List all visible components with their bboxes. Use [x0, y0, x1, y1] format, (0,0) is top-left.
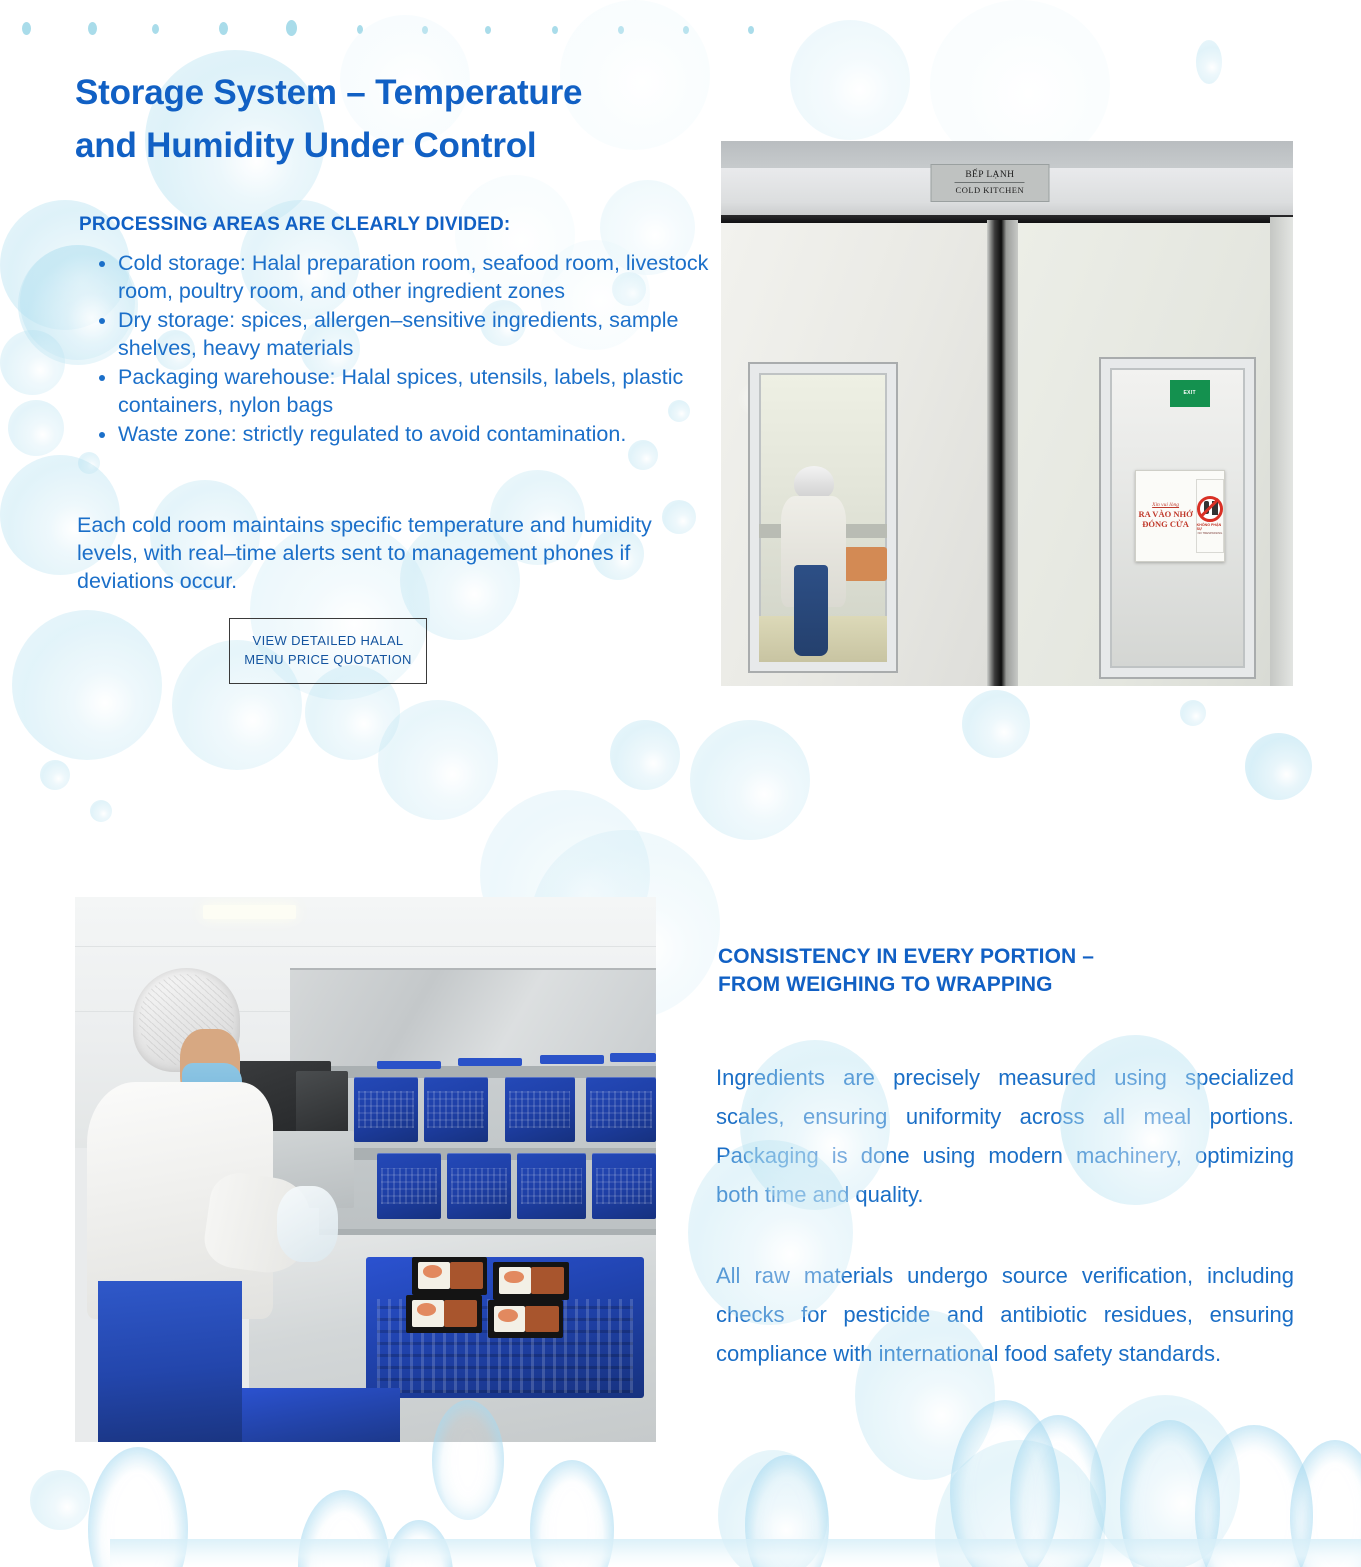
bubble	[962, 690, 1030, 758]
page-title-line-1: Storage System – Temperature	[75, 73, 582, 112]
bubble-outline	[88, 1447, 188, 1567]
list-item: Packaging warehouse: Halal spices, utens…	[118, 364, 732, 419]
bubble	[610, 720, 680, 790]
door-notice-sign: Xin vui lòng RA VÀO NHỚ ĐÓNG CỬA KHÔNG P…	[1135, 470, 1226, 562]
list-item: Dry storage: spices, allergen–sensitive …	[118, 307, 732, 362]
cta-line-2: MENU PRICE QUOTATION	[244, 651, 412, 670]
wall-panel-seam	[75, 946, 656, 947]
bubble	[935, 1440, 1105, 1567]
blue-crate	[517, 1153, 587, 1218]
meal-tray	[488, 1300, 564, 1338]
page-root: BẾP LẠNH COLD KITCHEN EXIT Xin vui lòn	[0, 0, 1361, 1567]
ceiling-light	[203, 905, 296, 919]
meal-tray	[406, 1295, 482, 1333]
bubble-dot	[286, 20, 297, 36]
bubble-outline	[298, 1490, 390, 1567]
meal-tray	[493, 1262, 569, 1300]
food-worker	[87, 968, 319, 1442]
blue-crate	[505, 1077, 575, 1142]
blue-crate	[354, 1077, 418, 1142]
bubble-outline	[1120, 1420, 1220, 1567]
worker-blue-apron	[98, 1281, 242, 1442]
blue-crate	[447, 1153, 511, 1218]
blue-crate	[586, 1077, 656, 1142]
crate-lid	[610, 1053, 656, 1062]
pictogram-caption-1: KHÔNG PHẬN SỰ	[1197, 523, 1224, 531]
crate-lid	[458, 1058, 522, 1067]
blue-crate	[424, 1077, 488, 1142]
crate-lid	[377, 1061, 441, 1070]
no-entry-pictogram-box: KHÔNG PHẬN SỰ NO TRESPASSING	[1196, 479, 1225, 553]
bubble	[1245, 733, 1312, 800]
view-quotation-button[interactable]: VIEW DETAILED HALAL MENU PRICE QUOTATION	[229, 618, 427, 684]
bubble	[1090, 1395, 1240, 1567]
bubble-dot	[219, 22, 228, 35]
bubble	[12, 610, 162, 760]
bubble-dot	[152, 24, 159, 34]
salmon-portion	[498, 1309, 518, 1322]
notice-line1: RA VÀO NHỚ	[1136, 509, 1196, 519]
consistency-heading: CONSISTENCY IN EVERY PORTION – FROM WEIG…	[718, 943, 1298, 1000]
dish-portion	[450, 1262, 483, 1289]
door-glyph	[1212, 501, 1218, 515]
notice-line0: Xin vui lòng	[1136, 502, 1196, 509]
bubble	[90, 800, 112, 822]
exit-sign: EXIT	[1170, 380, 1210, 407]
consistency-paragraph-1: Ingredients are precisely measured using…	[716, 1058, 1294, 1215]
bubble-outline	[1010, 1415, 1106, 1567]
sign-text-vietnamese: BẾP LẠNH	[965, 170, 1014, 180]
right-wall-edge	[1270, 217, 1293, 686]
consistency-heading-line-1: CONSISTENCY IN EVERY PORTION –	[718, 945, 1094, 968]
consistency-paragraph-2: All raw materials undergo source verific…	[716, 1256, 1294, 1373]
salmon-portion	[504, 1271, 524, 1284]
worker-glove	[277, 1186, 337, 1262]
bubble	[1180, 700, 1206, 726]
cold-room-note: Each cold room maintains specific temper…	[77, 512, 677, 596]
bubble	[30, 1470, 90, 1530]
door-gap	[987, 220, 1018, 686]
bubble-dot	[552, 26, 558, 34]
bubble-dot	[357, 25, 363, 34]
bubble-outline	[745, 1455, 829, 1567]
dish-portion	[444, 1300, 477, 1327]
dish-portion	[525, 1306, 558, 1333]
dish-portion	[531, 1267, 564, 1294]
blue-crate	[377, 1153, 441, 1218]
photo-cold-kitchen-doors: BẾP LẠNH COLD KITCHEN EXIT Xin vui lòn	[721, 141, 1293, 686]
page-title: Storage System – Temperature and Humidit…	[75, 66, 715, 172]
bottom-light-band	[110, 1539, 1361, 1567]
cold-kitchen-sign: BẾP LẠNH COLD KITCHEN	[930, 164, 1049, 202]
bubble-dot	[618, 26, 624, 34]
left-door-window	[750, 364, 897, 671]
bubble-outline	[1290, 1440, 1361, 1567]
processing-zones-list: Cold storage: Halal preparation room, se…	[86, 250, 732, 451]
right-door-window: EXIT Xin vui lòng RA VÀO NHỚ ĐÓNG CỬA KH…	[1101, 359, 1253, 677]
section-subheading: PROCESSING AREAS ARE CLEARLY DIVIDED:	[79, 214, 719, 236]
person-glyph	[1204, 501, 1209, 514]
bubble	[1196, 40, 1222, 84]
blue-crate	[592, 1153, 656, 1218]
bubble-dot	[485, 26, 491, 34]
sign-text-english: COLD KITCHEN	[956, 185, 1025, 195]
bubble	[8, 400, 64, 456]
bubble-dot	[683, 26, 689, 34]
bubble	[78, 452, 100, 474]
list-item: Waste zone: strictly regulated to avoid …	[118, 421, 732, 449]
consistency-heading-line-2: FROM WEIGHING TO WRAPPING	[718, 973, 1053, 996]
bubble	[718, 1450, 828, 1567]
bubble-outline	[530, 1460, 614, 1567]
pictogram-caption-2: NO TRESPASSING	[1198, 531, 1223, 535]
bubble-outline	[950, 1400, 1060, 1567]
meal-tray	[412, 1257, 488, 1295]
bubble	[40, 760, 70, 790]
worker-apron	[794, 565, 828, 657]
bubble	[378, 700, 498, 820]
bubble-dot	[22, 22, 31, 35]
list-item: Cold storage: Halal preparation room, se…	[118, 250, 732, 305]
bubble-dot	[88, 22, 97, 35]
worker-hairnet	[794, 466, 834, 500]
cta-line-1: VIEW DETAILED HALAL	[253, 632, 404, 651]
notice-text: Xin vui lòng RA VÀO NHỚ ĐÓNG CỬA	[1136, 502, 1196, 529]
sign-divider	[955, 182, 1025, 183]
bubble-dot	[748, 26, 754, 34]
crate-lid	[540, 1055, 604, 1064]
bubble	[0, 330, 65, 395]
bubble-outline	[385, 1520, 453, 1567]
no-entry-icon	[1197, 496, 1223, 522]
notice-line2: ĐÓNG CỬA	[1136, 519, 1196, 529]
bubble	[690, 720, 810, 840]
bubble-outline	[1195, 1425, 1313, 1567]
bubble	[790, 20, 910, 140]
page-title-line-2: and Humidity Under Control	[75, 126, 536, 165]
bubble-dot	[422, 26, 428, 34]
kitchen-worker	[777, 466, 854, 657]
photo-packaging-line	[75, 897, 656, 1442]
salmon-portion	[423, 1265, 443, 1278]
